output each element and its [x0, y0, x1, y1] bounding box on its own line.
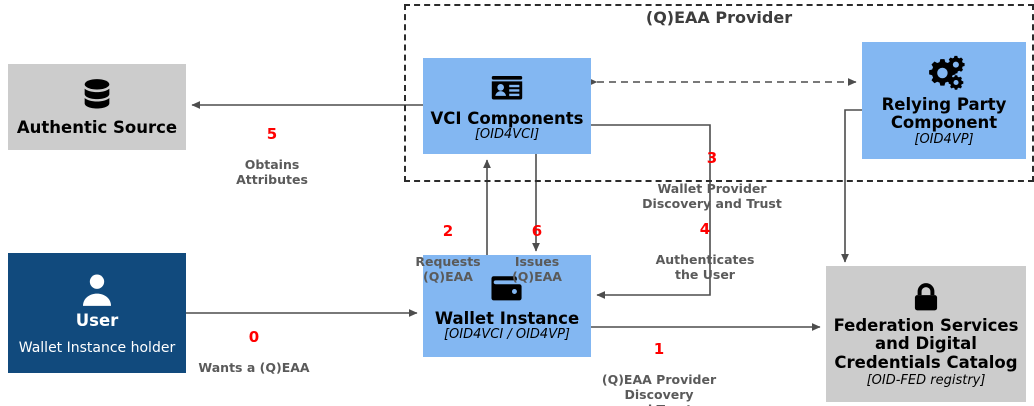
qeaa-provider-boundary-label: (Q)EAA Provider	[404, 8, 1034, 27]
edge-label-0: 0 Wants a (Q)EAA	[174, 313, 334, 376]
edge-text-0: Wants a (Q)EAA	[198, 360, 309, 375]
node-title: Relying Party Component	[882, 96, 1007, 133]
node-title: Wallet Instance	[435, 310, 579, 328]
node-title: Federation Services and Digital Credenti…	[834, 317, 1019, 372]
edge-text-5: Obtains Attributes	[236, 157, 308, 187]
edge-number-5: 5	[192, 125, 352, 144]
edge-number-0: 0	[174, 328, 334, 347]
edge-number-4: 4	[600, 220, 810, 239]
id-card-icon	[488, 69, 526, 107]
edge-label-1: 1 (Q)EAA Provider Discovery and Trust	[576, 325, 742, 406]
edge-label-2: 2 Requests (Q)EAA	[404, 207, 492, 285]
edge-label-3: 3 Wallet Provider Discovery and Trust	[612, 134, 812, 212]
edge-number-2: 2	[404, 222, 492, 241]
node-subtitle: [OID4VCI / OID4VP]	[444, 328, 570, 343]
node-vci-components[interactable]: VCI Components [OID4VCI]	[423, 58, 591, 154]
node-subtitle: [OID4VCI]	[475, 128, 539, 143]
node-title: VCI Components	[431, 110, 584, 128]
node-relying-party-component[interactable]: Relying Party Component [OID4VP]	[862, 42, 1026, 159]
person-icon	[77, 270, 117, 310]
edge-number-6: 6	[495, 222, 579, 241]
edge-text-6: Issues (Q)EAA	[512, 254, 562, 284]
edge-label-4: 4 Authenticates the User	[600, 205, 810, 283]
edge-text-4: Authenticates the User	[656, 252, 755, 282]
database-icon	[77, 76, 117, 116]
edge-text-2: Requests (Q)EAA	[415, 254, 480, 284]
edge-text-1: (Q)EAA Provider Discovery and Trust	[602, 372, 716, 406]
node-user[interactable]: User Wallet Instance holder	[8, 253, 186, 373]
diagram-canvas: (Q)EAA Provider Authentic Source VCI Com…	[0, 0, 1034, 406]
gears-icon	[923, 54, 965, 92]
node-title: User	[76, 312, 119, 330]
edge-label-5: 5 Obtains Attributes	[192, 110, 352, 188]
edge-number-1: 1	[576, 340, 742, 359]
node-title: Authentic Source	[17, 119, 177, 137]
node-subtitle: Wallet Instance holder	[19, 340, 175, 356]
node-authentic-source[interactable]: Authentic Source	[8, 64, 186, 150]
node-subtitle: [OID-FED registry]	[867, 374, 986, 389]
node-federation-services[interactable]: Federation Services and Digital Credenti…	[826, 266, 1026, 402]
edge-label-6: 6 Issues (Q)EAA	[495, 207, 579, 285]
lock-icon	[907, 279, 945, 317]
edge-number-3: 3	[612, 149, 812, 168]
node-subtitle: [OID4VP]	[914, 133, 973, 148]
